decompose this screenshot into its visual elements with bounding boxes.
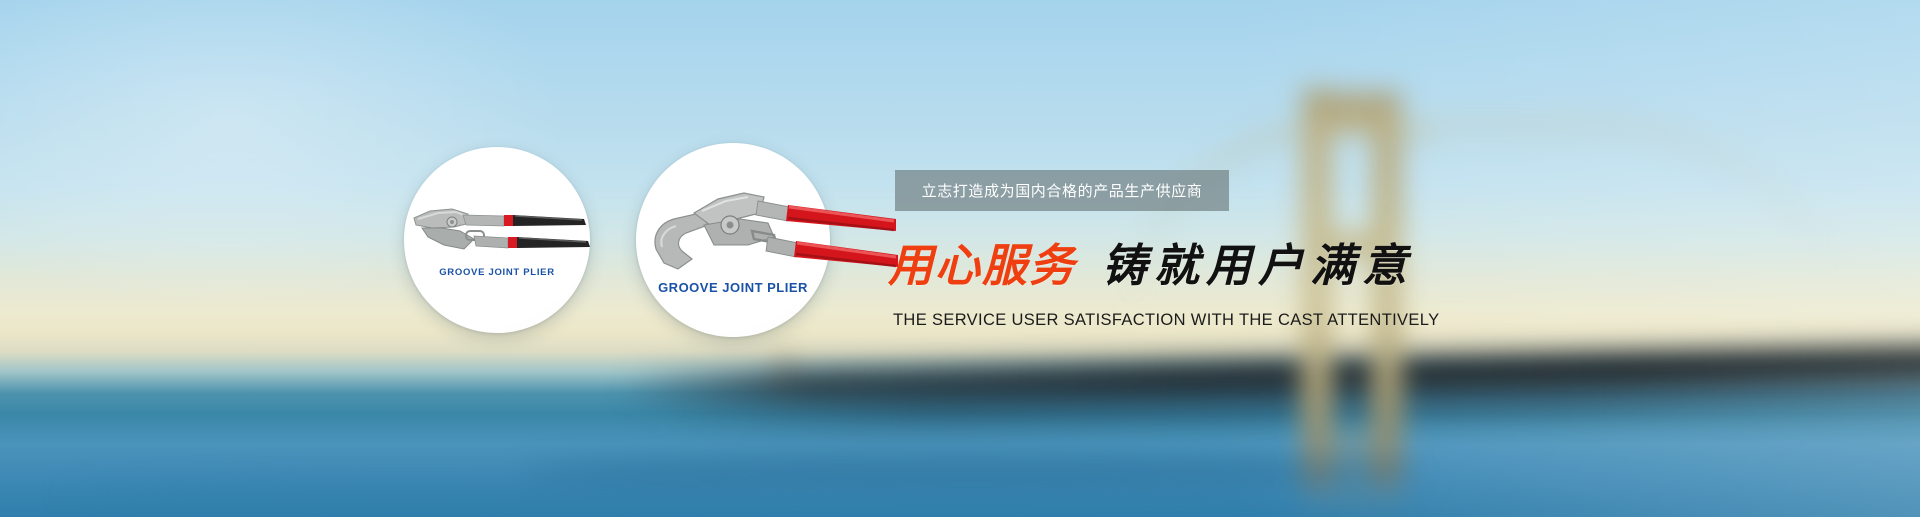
groove-joint-plier-black-handle-icon — [408, 195, 594, 265]
groove-joint-plier-red-handle-icon — [648, 179, 898, 289]
product-label-2: GROOVE JOINT PLIER — [636, 280, 830, 295]
water-sheen-band-secondary — [60, 478, 760, 512]
product-circle-1[interactable]: GROOVE JOINT PLIER — [404, 147, 590, 333]
product-label-1: GROOVE JOINT PLIER — [404, 267, 590, 278]
hero-banner: GROOVE JOINT PLIER — [0, 0, 1920, 517]
tagline-bar: 立志打造成为国内合格的产品生产供应商 — [895, 170, 1229, 211]
headline: 用心服务铸就用户满意 — [888, 243, 1414, 288]
product-circle-2[interactable]: GROOVE JOINT PLIER — [636, 143, 830, 337]
headline-primary-text: 用心服务 — [888, 243, 1076, 288]
bridge-cable-right-icon — [1395, 118, 1825, 283]
tagline-text: 立志打造成为国内合格的产品生产供应商 — [922, 180, 1203, 201]
headline-secondary-text: 铸就用户满意 — [1102, 243, 1414, 288]
bridge-pylon-crossbar-top — [1302, 92, 1402, 132]
headline-subtitle: THE SERVICE USER SATISFACTION WITH THE C… — [893, 311, 1439, 330]
